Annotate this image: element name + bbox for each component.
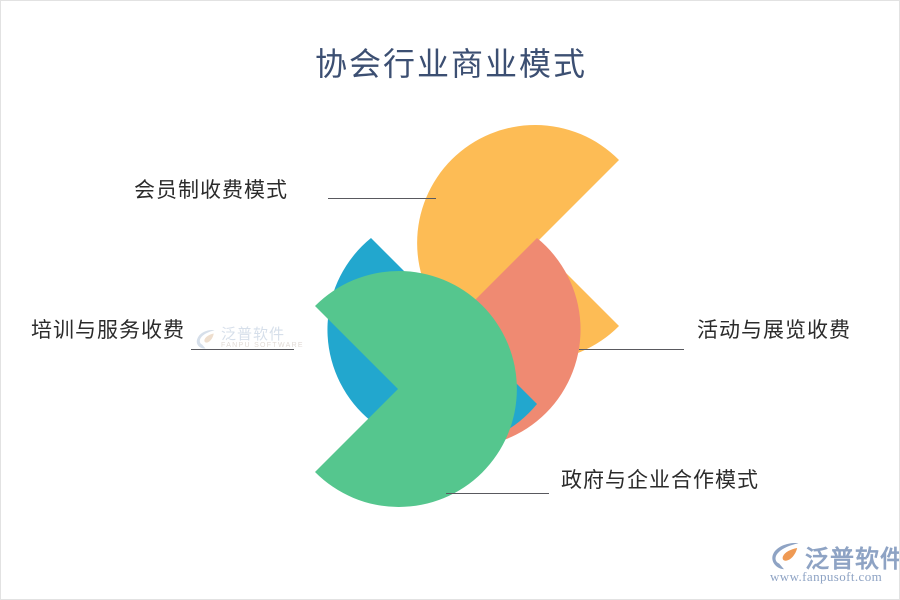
label-events: 活动与展览收费 (697, 314, 851, 344)
page-title: 协会行业商业模式 (1, 39, 900, 85)
brand-url-text: www.fanpusoft.com (770, 569, 882, 585)
brand-logo: 泛普软件 www.fanpusoft.com (769, 539, 893, 589)
fanpu-logo-icon (769, 541, 803, 571)
connector-line-government (446, 493, 549, 494)
diagram-canvas: 协会行业商业模式 泛普软件 FANPU SOFTWARE 会员制收费模式 培训与… (0, 0, 900, 600)
label-government: 政府与企业合作模式 (561, 464, 759, 494)
label-training: 培训与服务收费 (31, 314, 185, 344)
connector-line-membership (328, 198, 436, 199)
connector-line-training (191, 349, 294, 350)
watermark-logo-icon (194, 327, 218, 351)
label-membership: 会员制收费模式 (134, 174, 288, 204)
connector-line-events (579, 349, 684, 350)
